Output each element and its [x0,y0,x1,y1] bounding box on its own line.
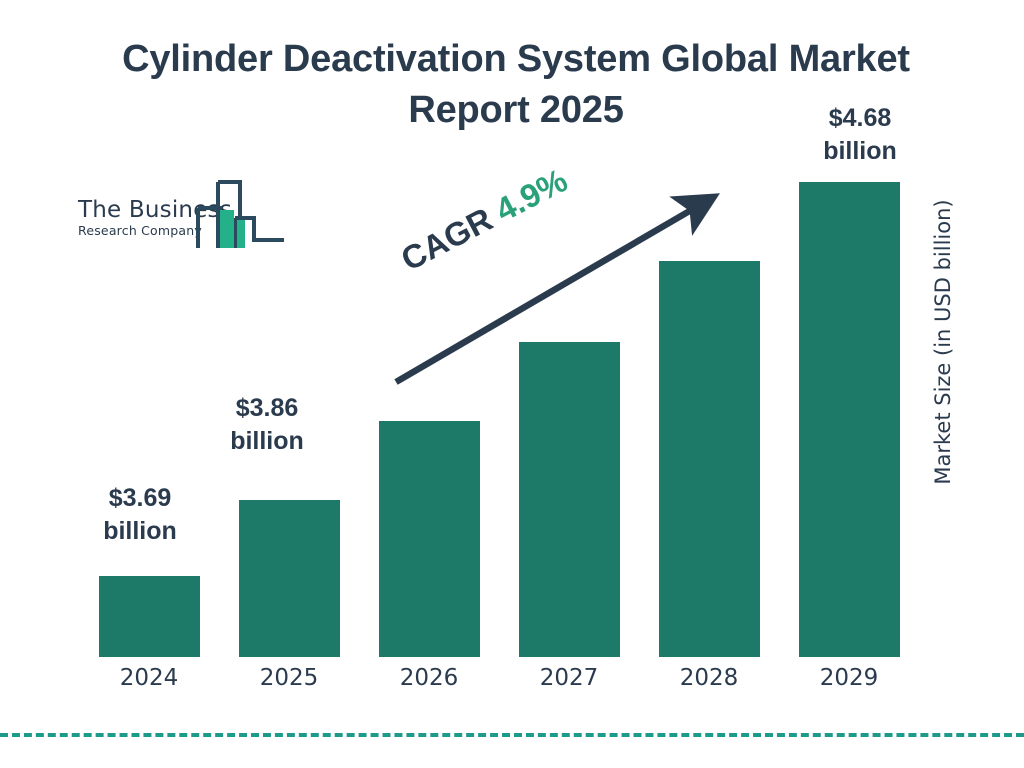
x-tick-2028: 2028 [649,665,769,691]
callout-2025: $3.86 billion [202,392,332,458]
bar-2025 [239,500,340,657]
callout-2029: $4.68 billion [795,102,925,168]
callout-2025-unit: billion [202,425,332,458]
callout-2029-unit: billion [795,135,925,168]
x-tick-2027: 2027 [509,665,629,691]
callout-2024: $3.69 billion [75,482,205,548]
bar-2028 [659,261,760,657]
bar-2027 [519,342,620,657]
callout-2029-value: $4.68 [795,102,925,135]
callout-2024-unit: billion [75,515,205,548]
cagr-annotation: CAGR 4.9% [395,161,574,279]
bar-2029 [799,182,900,657]
bar-2026 [379,421,480,657]
chart-canvas: Cylinder Deactivation System Global Mark… [0,0,1024,768]
x-tick-2026: 2026 [369,665,489,691]
x-tick-2024: 2024 [89,665,209,691]
callout-2024-value: $3.69 [75,482,205,515]
bar-2024 [99,576,200,657]
cagr-prefix: CAGR [395,200,498,278]
callout-2025-value: $3.86 [202,392,332,425]
brand-logo: The Business Research Company [78,192,288,254]
bar-chart-logo-icon [196,178,288,255]
footer-divider [0,733,1024,737]
x-tick-2025: 2025 [229,665,349,691]
cagr-value: 4.9% [489,161,573,229]
x-tick-2029: 2029 [789,665,909,691]
y-axis-title: Market Size (in USD billion) [931,177,955,507]
